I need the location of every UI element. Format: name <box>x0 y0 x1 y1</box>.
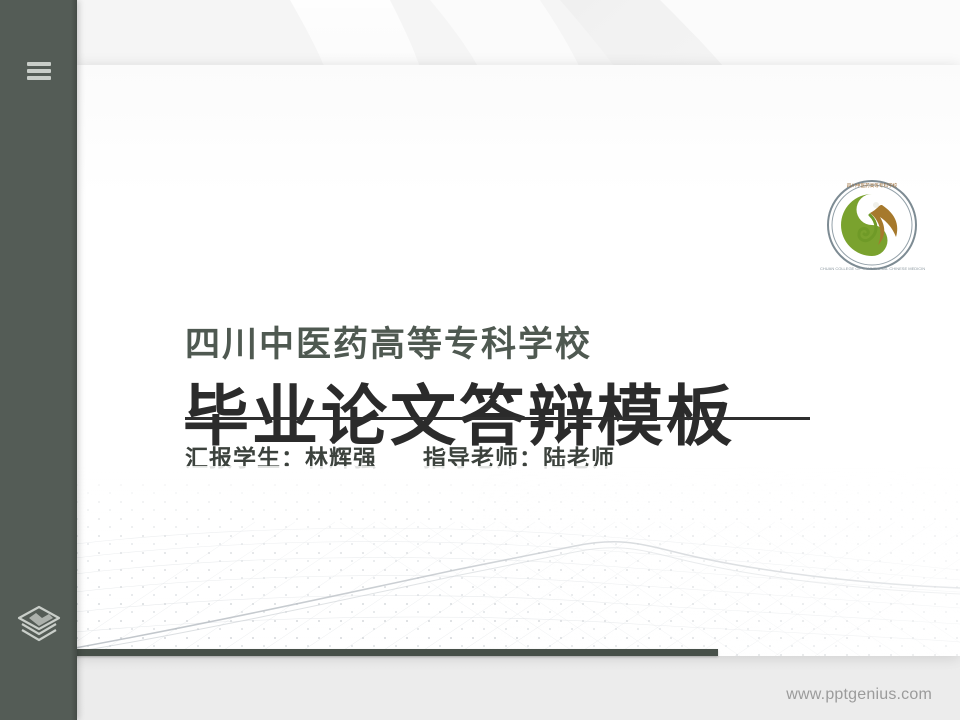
footer-website-url[interactable]: www.pptgenius.com <box>786 686 932 704</box>
layers-stack-icon <box>16 603 62 648</box>
slide-subtitle: 四川中医药高等专科学校 <box>185 327 592 362</box>
wireframe-wave-graphic <box>75 466 960 656</box>
title-divider-rule <box>185 417 810 420</box>
school-emblem-logo: 四川中医药高等专科学校 SICHUAN COLLEGE OF TRADITION… <box>820 175 925 275</box>
slide-title: 毕业论文答辩模板 <box>183 383 735 449</box>
hamburger-menu-icon <box>27 62 51 80</box>
svg-text:SICHUAN COLLEGE OF TRADITIONAL: SICHUAN COLLEGE OF TRADITIONAL CHINESE M… <box>820 266 925 271</box>
slide-canvas[interactable]: 四川中医药高等专科学校 SICHUAN COLLEGE OF TRADITION… <box>75 65 960 656</box>
layers-button[interactable] <box>0 600 77 650</box>
slide-viewer: 四川中医药高等专科学校 SICHUAN COLLEGE OF TRADITION… <box>0 0 960 720</box>
slide-accent-bar <box>75 649 718 656</box>
left-toolbar-rail <box>0 0 77 720</box>
svg-text:四川中医药高等专科学校: 四川中医药高等专科学校 <box>847 182 898 189</box>
menu-button[interactable] <box>0 52 77 90</box>
